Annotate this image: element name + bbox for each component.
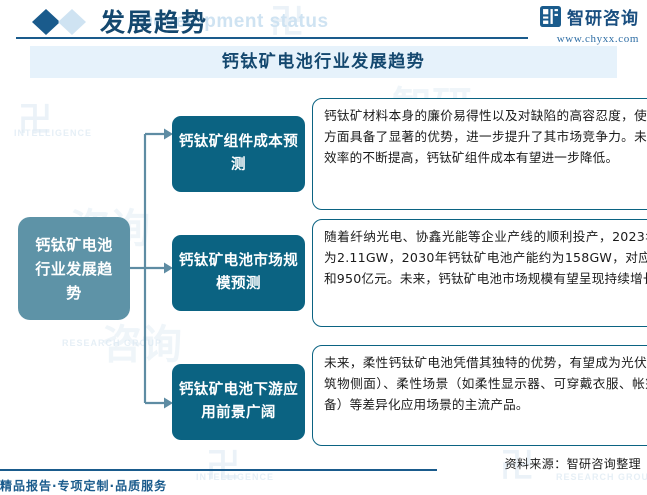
branch-1-body: 钙钛矿材料本身的廉价易得性以及对缺陷的高容忍度，使得钙钛矿电池在成本控制方面具备… (312, 98, 647, 210)
branch-3-body-text: 未来，柔性钙钛矿电池凭借其独特的优势，有望成为光伏建筑一体化（如窗户、建筑物侧面… (324, 352, 647, 415)
branch-1-head[interactable]: 钙钛矿组件成本预测 (172, 116, 305, 192)
diamond-icon (18, 8, 92, 36)
footer-divider (0, 469, 437, 471)
footer-source: 资料来源：智研咨询整理 (505, 455, 641, 472)
branch-2-head[interactable]: 钙钛矿电池市场规模预测 (172, 235, 305, 311)
branch-3-head-label: 钙钛矿电池下游应用前景广阔 (176, 379, 302, 425)
footer-slogan: 精品报告·专项定制·品质服务 (0, 477, 167, 494)
brand-logo-icon (540, 6, 561, 27)
branch-2-body-text: 随着纤纳光电、协鑫光能等企业产线的顺利投产，2023年全球钙钛矿电池产能约为2.… (324, 226, 647, 289)
branch-2-body: 随着纤纳光电、协鑫光能等企业产线的顺利投产，2023年全球钙钛矿电池产能约为2.… (312, 219, 647, 327)
header-divider (16, 37, 528, 39)
root-node-label: 钙钛矿电池行业发展趋势 (35, 233, 113, 305)
brand-block: 智研咨询 www.chyxx.com (540, 4, 639, 45)
root-node[interactable]: 钙钛矿电池行业发展趋势 (18, 217, 130, 320)
brand-name: 智研咨询 (567, 4, 639, 29)
header-title: 发展趋势 (100, 3, 208, 39)
page-header: Development status 发展趋势 智研咨询 www.chyxx.c… (0, 0, 647, 46)
branch-3-body: 未来，柔性钙钛矿电池凭借其独特的优势，有望成为光伏建筑一体化（如窗户、建筑物侧面… (312, 345, 647, 446)
branch-1-head-label: 钙钛矿组件成本预测 (176, 131, 302, 177)
title-band: 钙钛矿电池行业发展趋势 (30, 46, 617, 78)
page-title: 钙钛矿电池行业发展趋势 (30, 46, 617, 78)
flow-diagram: 钙钛矿电池行业发展趋势 钙钛矿组件成本预测 钙钛矿材料本身的廉价易得性以及对缺陷… (0, 78, 647, 448)
brand-url: www.chyxx.com (540, 33, 639, 45)
branch-2-head-label: 钙钛矿电池市场规模预测 (176, 250, 302, 296)
page-footer: 精品报告·专项定制·品质服务 资料来源：智研咨询整理 (0, 455, 647, 495)
branch-3-head[interactable]: 钙钛矿电池下游应用前景广阔 (172, 364, 305, 440)
branch-1-body-text: 钙钛矿材料本身的廉价易得性以及对缺陷的高容忍度，使得钙钛矿电池在成本控制方面具备… (324, 105, 647, 168)
